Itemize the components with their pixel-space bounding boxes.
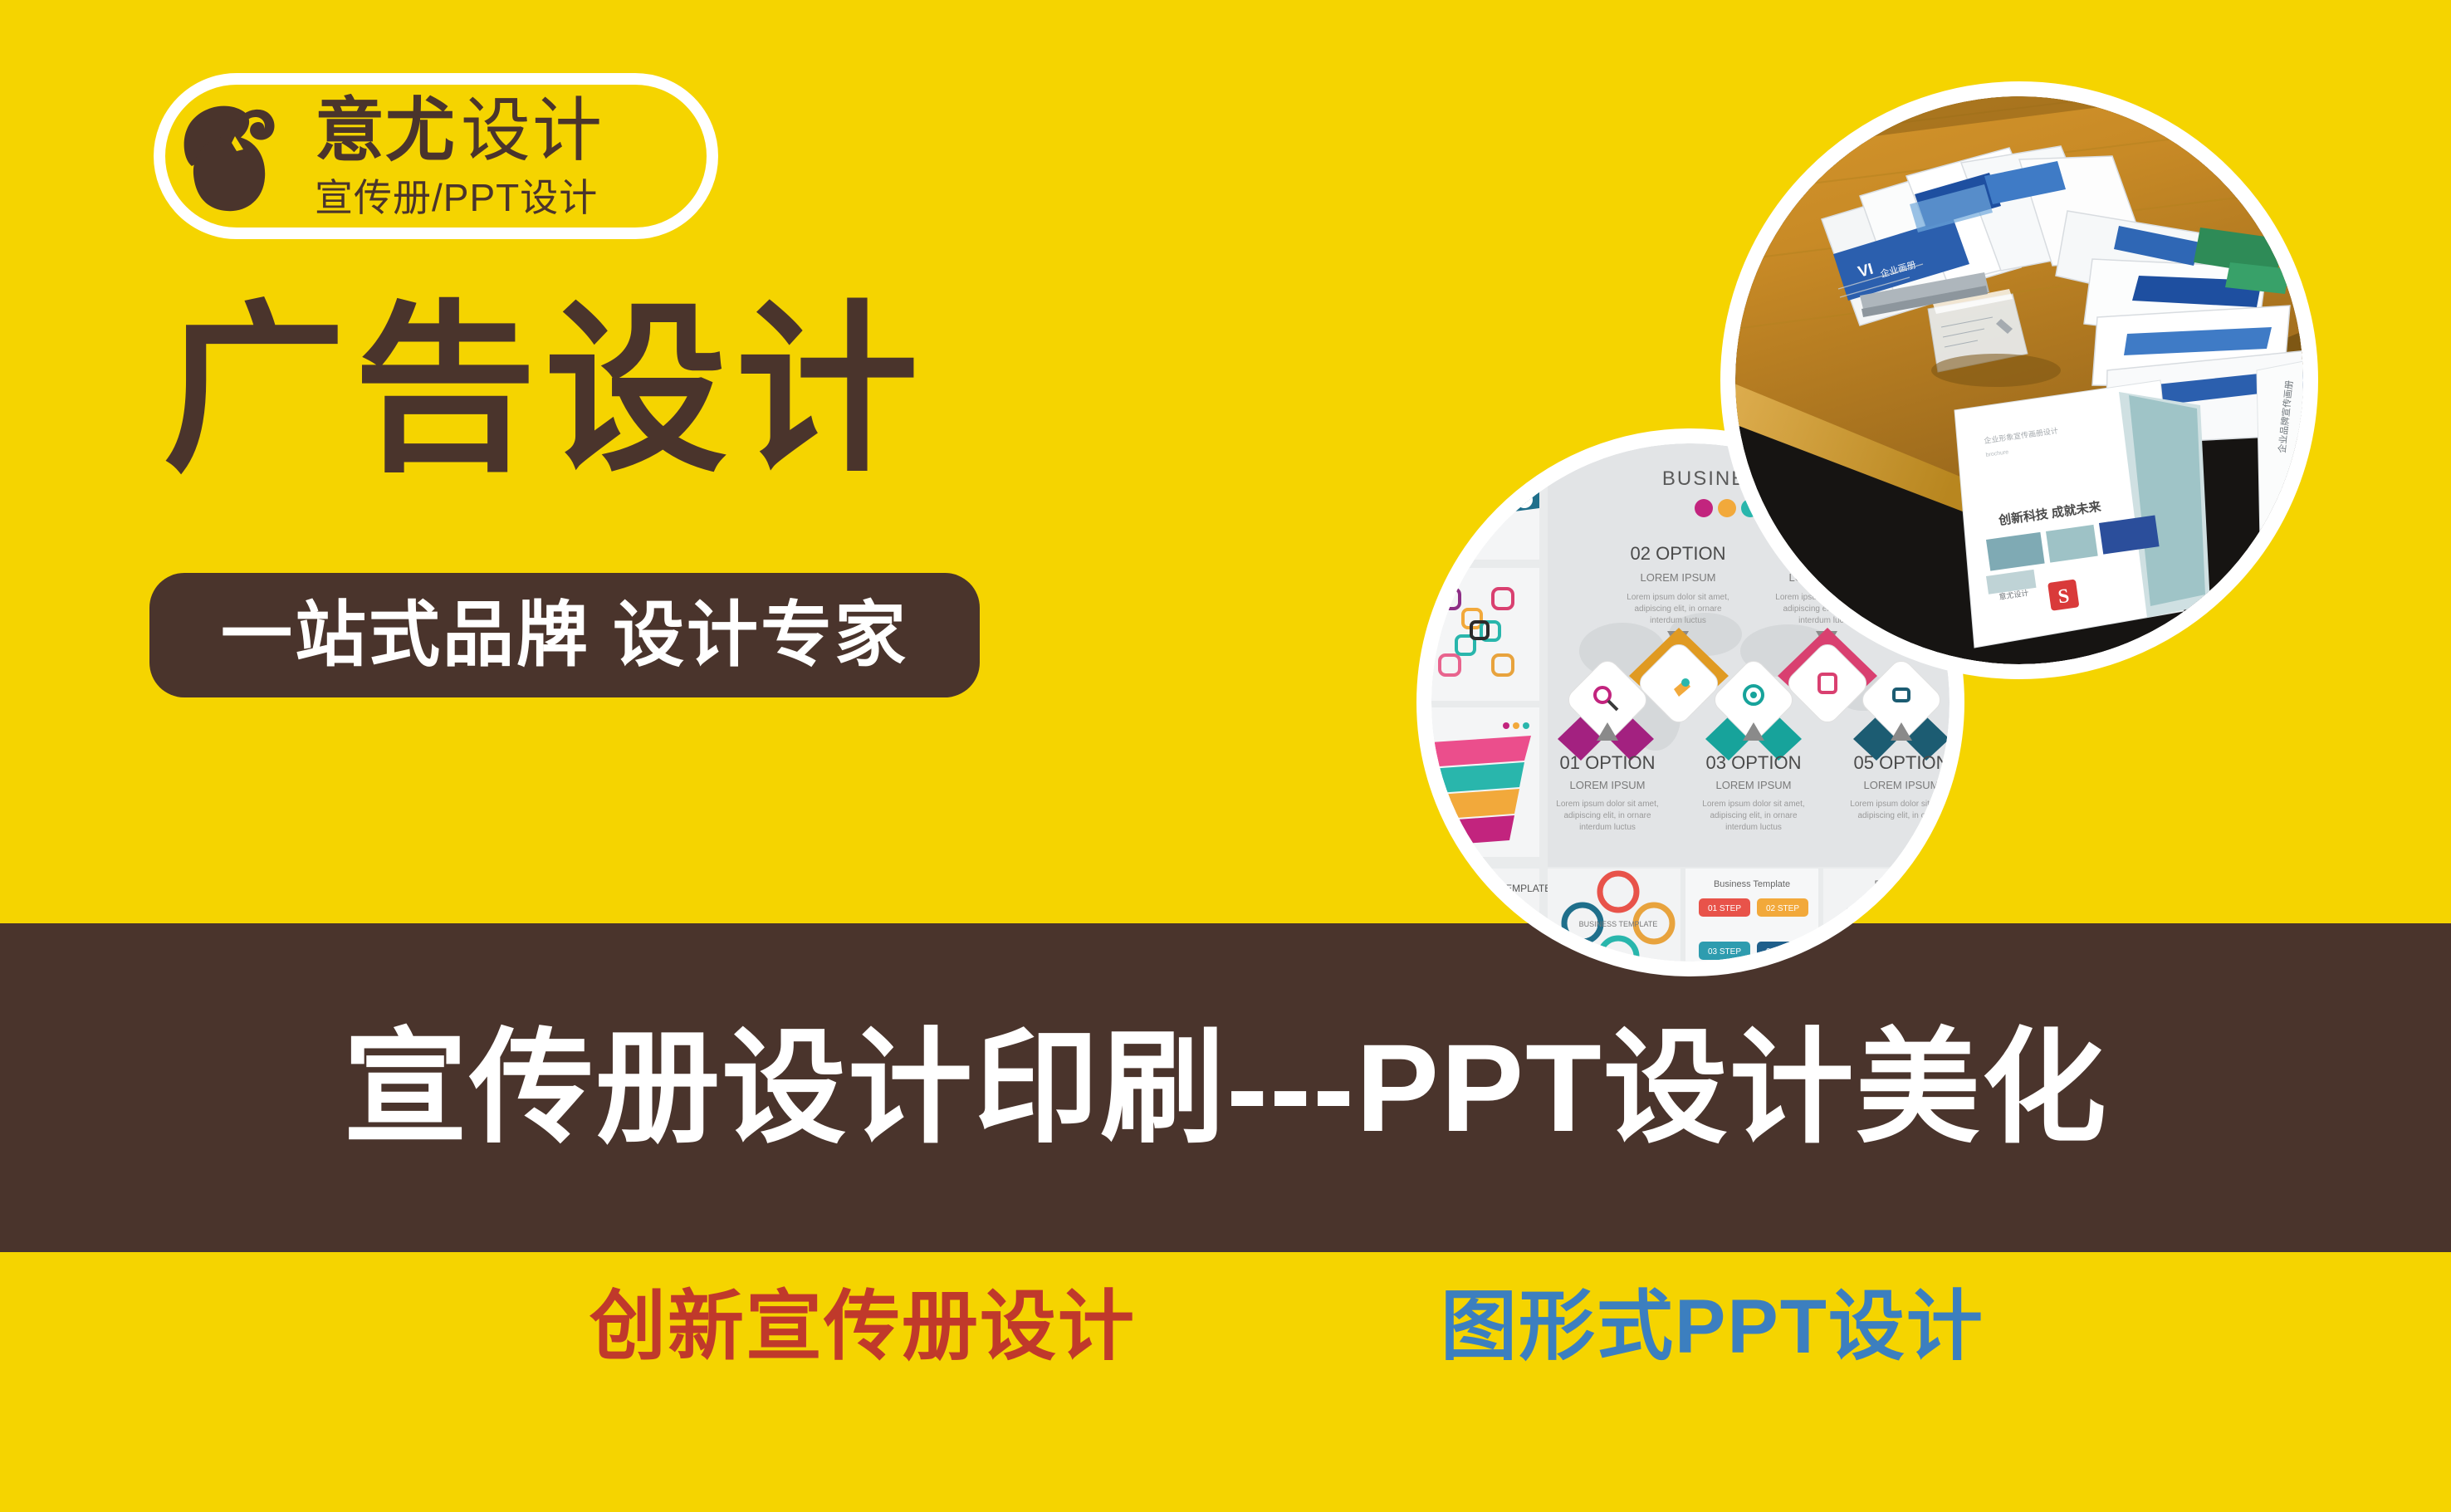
svg-text:01 STEP: 01 STEP xyxy=(1708,904,1741,913)
brand-name-bold: 意尤 xyxy=(315,95,456,165)
svg-text:03 OPTION: 03 OPTION xyxy=(1706,752,1802,773)
svg-text:01 OPTION: 01 OPTION xyxy=(1560,752,1656,773)
page-title: 广告设计 xyxy=(163,292,927,490)
svg-text:adipiscing elit, in ornare: adipiscing elit, in ornare xyxy=(1710,811,1797,820)
svg-text:LOREM IPSUM: LOREM IPSUM xyxy=(1569,779,1645,791)
tag-brochure-design: 创新宣传册设计 xyxy=(590,1289,1136,1365)
svg-text:adipiscing elit, in ornare: adipiscing elit, in ornare xyxy=(1563,811,1651,820)
svg-text:05 OPTION: 05 OPTION xyxy=(1854,752,1950,773)
bird-leaf-mark-icon xyxy=(164,86,303,226)
tagline-pill: 一站式品牌 设计专家 xyxy=(149,573,980,697)
svg-text:adipiscing elit, in ornare: adipiscing elit, in ornare xyxy=(1634,604,1721,614)
brand-name-light: 设计 xyxy=(461,95,604,165)
svg-text:LOREM IPSUM: LOREM IPSUM xyxy=(1640,571,1715,584)
svg-text:Lorem ipsum dolor sit amet,: Lorem ipsum dolor sit amet, xyxy=(1556,800,1658,809)
svg-text:02 OPTION: 02 OPTION xyxy=(1631,543,1726,564)
advertising-design-banner: 意尤 设计 宣传册/PPT设计 广告设计 一站式品牌 设计专家 xyxy=(0,0,2451,1512)
band-headline: 宣传册设计印刷---PPT设计美化 xyxy=(0,923,2451,1252)
tagline-pill-label: 一站式品牌 设计专家 xyxy=(221,599,908,671)
svg-text:02 STEP: 02 STEP xyxy=(1766,904,1799,913)
svg-text:LOREM IPSUM: LOREM IPSUM xyxy=(1715,779,1791,791)
brand-logo-text: 意尤 设计 宣传册/PPT设计 xyxy=(315,95,604,217)
svg-text:Lorem ipsum dolor sit amet,: Lorem ipsum dolor sit amet, xyxy=(1850,800,1950,809)
svg-text:interdum luctus: interdum luctus xyxy=(1650,616,1706,625)
svg-text:interdum luctus: interdum luctus xyxy=(1579,823,1636,832)
brochures-photo-inner: VI 企业画册 xyxy=(1735,96,2303,664)
svg-text:LOREM IPSUM: LOREM IPSUM xyxy=(1863,779,1939,791)
background-band-yellow-bottom xyxy=(0,1252,2451,1512)
tag-ppt-design: 图形式PPT设计 xyxy=(1441,1289,1984,1365)
band-headline-label: 宣传册设计印刷---PPT设计美化 xyxy=(343,1025,2108,1150)
svg-text:Business Template: Business Template xyxy=(1714,879,1790,889)
brand-logo-subtitle: 宣传册/PPT设计 xyxy=(315,179,604,217)
svg-text:adipiscing elit, in ornare: adipiscing elit, in ornare xyxy=(1857,811,1945,820)
svg-text:Lorem ipsum dolor sit amet,: Lorem ipsum dolor sit amet, xyxy=(1627,593,1729,602)
svg-text:interdum luctus: interdum luctus xyxy=(1725,823,1782,832)
brand-logo-title: 意尤 设计 xyxy=(315,95,604,165)
brand-logo-badge: 意尤 设计 宣传册/PPT设计 xyxy=(154,73,718,239)
svg-text:Lorem ipsum dolor sit amet,: Lorem ipsum dolor sit amet, xyxy=(1702,800,1804,809)
printed-brochures-photo: VI 企业画册 xyxy=(1720,81,2318,679)
